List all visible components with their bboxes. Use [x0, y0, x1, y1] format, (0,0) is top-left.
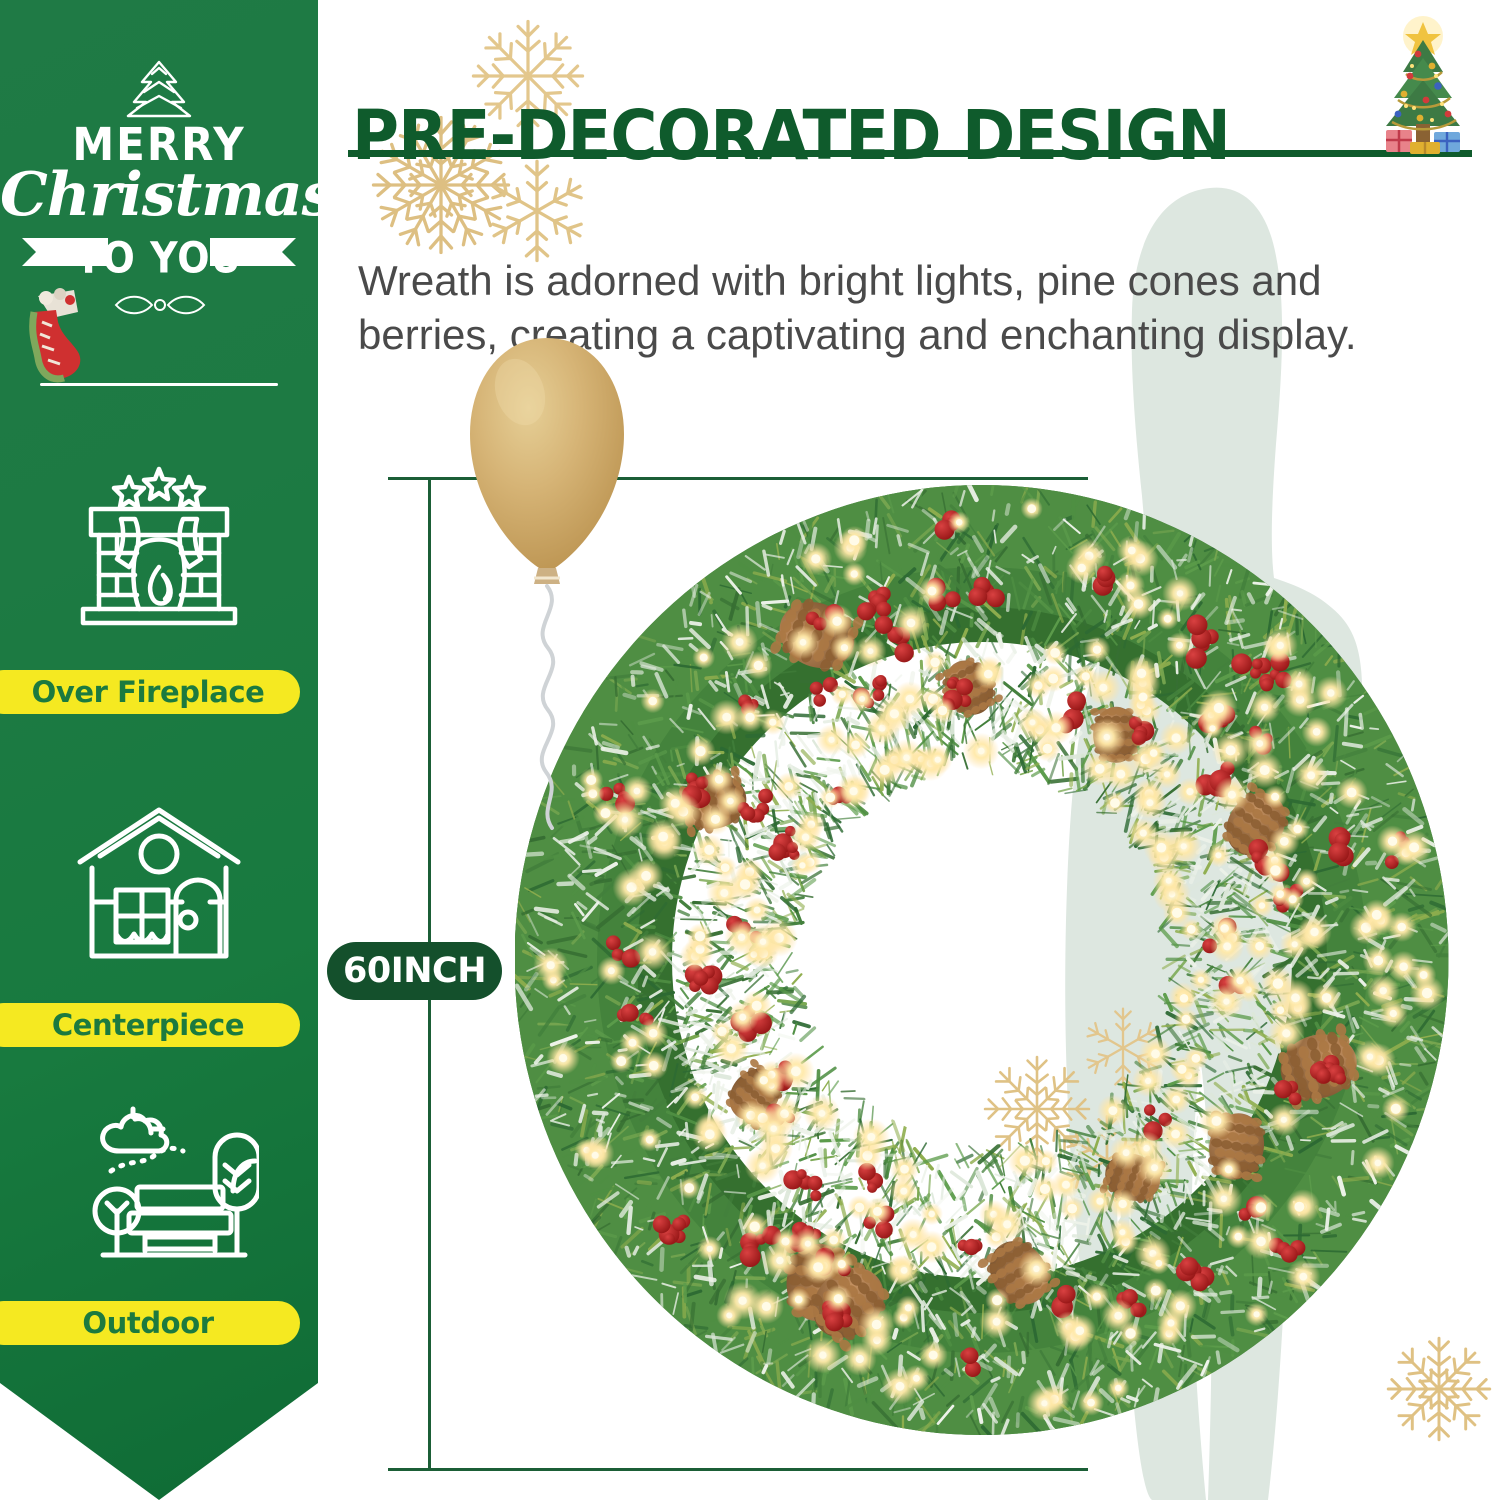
lockup-line-christmas: Christmas: [0, 160, 318, 230]
badge-label: Centerpiece: [52, 1008, 244, 1042]
park-bench-outdoor-icon: [59, 1095, 259, 1295]
product-infographic: MERRY Christmas TO YOU: [0, 0, 1500, 1500]
page-title: PRE-DECORATED DESIGN: [352, 96, 1230, 176]
badge-outdoor: Outdoor: [0, 1301, 300, 1345]
feature-outdoor: Outdoor: [0, 1095, 318, 1365]
holly-sprig-icon: [112, 292, 208, 318]
gold-glitter-balloon: [452, 330, 642, 890]
badge-label: Outdoor: [82, 1306, 213, 1340]
badge-centerpiece: Centerpiece: [0, 1003, 300, 1047]
sidebar: MERRY Christmas TO YOU: [0, 0, 318, 1500]
badge-label: Over Fireplace: [32, 675, 265, 709]
feature-centerpiece: Centerpiece: [0, 795, 318, 1055]
merry-christmas-lockup: MERRY Christmas TO YOU: [0, 20, 318, 370]
lockup-line-to-you: TO YOU: [0, 233, 318, 282]
fireplace-icon: [59, 463, 259, 663]
measure-line-bottom: [388, 1468, 1088, 1471]
house-icon: [64, 798, 254, 988]
feature-over-fireplace: Over Fireplace: [0, 460, 318, 730]
size-label: 60INCH: [343, 951, 486, 991]
decorated-christmas-tree-with-gifts-icon: [1348, 14, 1498, 164]
badge-over-fireplace: Over Fireplace: [0, 670, 300, 714]
christmas-stocking-icon: [12, 278, 96, 388]
title-underline: [348, 150, 1472, 157]
christmas-wreath-product-image: [515, 485, 1450, 1435]
size-badge: 60INCH: [327, 942, 502, 1000]
christmas-tree-outline-icon: [104, 58, 214, 120]
sidebar-divider: [40, 383, 278, 386]
